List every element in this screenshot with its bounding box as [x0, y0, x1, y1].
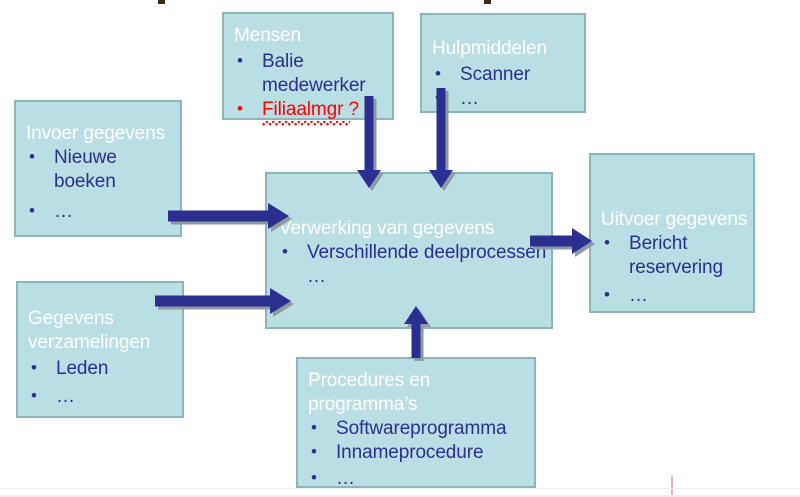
- list-item: …: [26, 200, 176, 224]
- box-mensen-item-0: Balie medewerker: [262, 51, 366, 96]
- box-gegevens-verzamelingen-items: Leden …: [28, 357, 178, 409]
- box-invoer-gegevens-items: Nieuwe boeken …: [26, 146, 176, 224]
- list-item: Nieuwe boeken: [26, 146, 176, 194]
- arrow-mensen-to-verwerking: [357, 96, 387, 196]
- box-invoer-gegevens-item-1: …: [54, 201, 73, 222]
- arrow-verwerking-to-uitvoer: [530, 228, 600, 260]
- box-gegevens-verzamelingen-item-0: Leden: [56, 358, 108, 379]
- box-hulpmiddelen-item-0: Scanner: [460, 64, 530, 85]
- arrow-hulpmiddelen-to-verwerking: [429, 88, 459, 196]
- box-procedures-en-programmas-item-0: Softwareprogramma: [336, 418, 506, 439]
- box-mensen-item-1: Filiaalmgr ?: [262, 99, 359, 120]
- list-item: Leden: [28, 357, 178, 381]
- box-invoer-gegevens-title: Invoer gegevens: [26, 122, 165, 146]
- box-uitvoer-gegevens[interactable]: Uitvoer gegevens Bericht reservering …: [589, 153, 755, 313]
- box-hulpmiddelen-item-1: …: [460, 88, 479, 109]
- box-uitvoer-gegevens-items: Bericht reservering …: [601, 232, 749, 308]
- box-invoer-gegevens[interactable]: Invoer gegevens Nieuwe boeken …: [14, 100, 182, 237]
- diagram-canvas: Mensen Balie medewerker Filiaalmgr ? Hul…: [0, 0, 800, 497]
- list-item: Innameprocedure: [308, 441, 530, 465]
- page-margin-mark: [671, 476, 673, 497]
- spellcheck-underline: [262, 121, 350, 126]
- box-procedures-en-programmas[interactable]: Procedures en programma’s Softwareprogra…: [296, 357, 536, 488]
- box-gegevens-verzamelingen-item-1: …: [56, 386, 75, 407]
- cropped-title-fragment-left: [158, 0, 165, 4]
- box-uitvoer-gegevens-item-1: …: [629, 285, 648, 306]
- arrow-gegevensverzamelingen-to-verwerking: [155, 288, 300, 320]
- arrow-procedures-to-verwerking: [404, 306, 434, 364]
- box-uitvoer-gegevens-title: Uitvoer gegevens: [601, 208, 747, 232]
- list-item: Balie medewerker: [234, 50, 388, 98]
- box-verwerking-van-gegevens-title: Verwerking van gegevens: [279, 217, 494, 241]
- cropped-title-fragment-right: [484, 0, 491, 4]
- box-mensen-title: Mensen: [234, 24, 301, 48]
- list-item: Verschillende deelprocessen …: [279, 241, 547, 289]
- list-item: …: [28, 385, 178, 409]
- list-item: Bericht reservering: [601, 232, 749, 280]
- list-item: …: [601, 284, 749, 308]
- box-hulpmiddelen-title: Hulpmiddelen: [432, 37, 547, 61]
- box-verwerking-van-gegevens-item-0: Verschillende deelprocessen …: [307, 242, 546, 287]
- box-uitvoer-gegevens-item-0: Bericht reservering: [629, 233, 723, 278]
- list-item: Scanner: [432, 63, 580, 87]
- box-invoer-gegevens-item-0: Nieuwe boeken: [54, 147, 117, 192]
- list-item: Softwareprogramma: [308, 417, 530, 441]
- box-procedures-en-programmas-item-2: …: [336, 468, 355, 489]
- slide-bottom-hairline: [0, 488, 800, 489]
- box-procedures-en-programmas-item-1: Innameprocedure: [336, 442, 483, 463]
- box-verwerking-van-gegevens-items: Verschillende deelprocessen …: [279, 241, 547, 289]
- arrow-invoer-to-verwerking: [168, 203, 298, 235]
- box-procedures-en-programmas-items: Softwareprogramma Innameprocedure …: [308, 417, 530, 491]
- box-procedures-en-programmas-title: Procedures en programma’s: [308, 369, 534, 417]
